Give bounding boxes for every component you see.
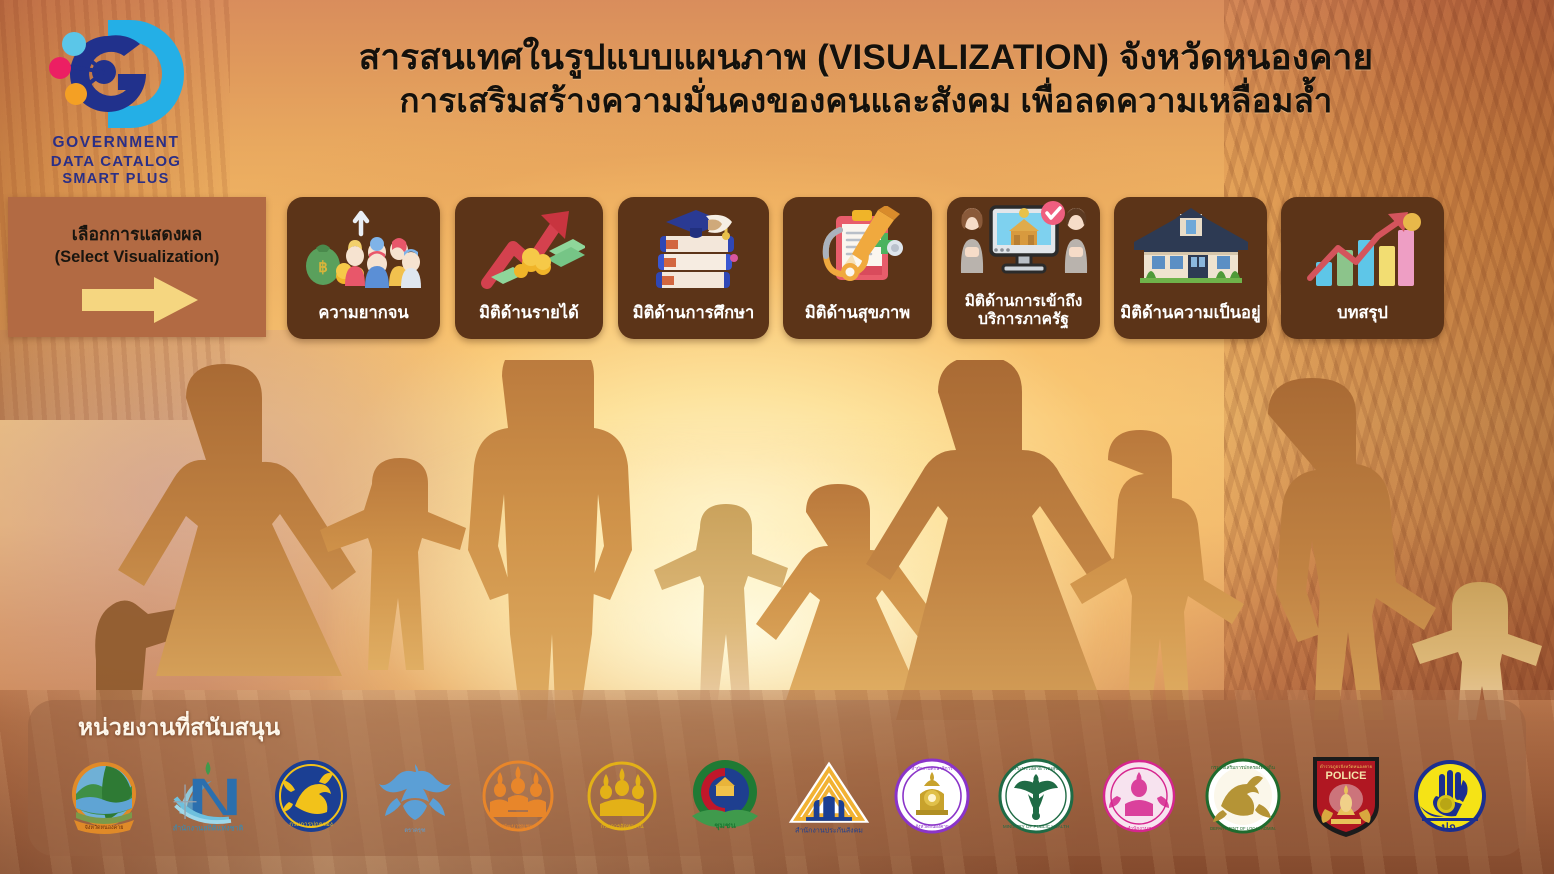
svg-text:จังหวัดหนองคาย: จังหวัดหนองคาย: [85, 824, 124, 831]
svg-text:฿: ฿: [318, 259, 328, 276]
page-title: สารสนเทศในรูปแบบแผนภาพ (VISUALIZATION) จ…: [196, 36, 1536, 122]
nav-button-health[interactable]: มิติด้านสุขภาพ: [783, 197, 932, 339]
page-header: GOVERNMENT DATA CATALOG SMART PLUS สารสน…: [0, 0, 1554, 190]
page-title-line-2: การเสริมสร้างความมั่นคงของคนและสังคม เพื…: [196, 80, 1536, 122]
svg-text:สำนักงานศึกษาธิการ: สำนักงานศึกษาธิการ: [912, 765, 954, 771]
brand-line-1: GOVERNMENT: [36, 134, 196, 153]
agency-logo-national-statistical: สำนักงานสถิติแห่งชาติ: [164, 752, 252, 840]
svg-text:สำนักงานประกันสังคม: สำนักงานประกันสังคม: [795, 826, 863, 834]
agency-logo-employment-dept: กรมการจัดหางาน: [578, 752, 666, 840]
nav-button-poverty-label: ความยากจน: [291, 304, 436, 323]
nav-button-income[interactable]: มิติด้านรายได้: [455, 197, 603, 339]
svg-text:จังหวัดหนองคาย: จังหวัดหนองคาย: [916, 823, 949, 829]
svg-text:สำนักงานสถิติแห่งชาติ: สำนักงานสถิติแห่งชาติ: [172, 823, 243, 832]
agency-logo-disaster-prevention: ปภ.: [1406, 752, 1494, 840]
visualization-nav: ฿ ความยากจน: [0, 197, 1554, 339]
brand-logo: GOVERNMENT DATA CATALOG SMART PLUS: [36, 14, 196, 186]
svg-text:POLICE: POLICE: [1326, 770, 1367, 782]
bar-chart-trend-icon: [1281, 205, 1444, 291]
brand-line-3: SMART PLUS: [36, 171, 196, 189]
nav-button-summary-label: บทสรุป: [1285, 304, 1440, 323]
agency-logo-education-office: สำนักงานศึกษาธิการ จังหวัดหนองคาย: [888, 752, 976, 840]
nav-button-education[interactable]: มิติด้านการศึกษา: [618, 197, 769, 339]
house-icon: [1114, 205, 1267, 291]
svg-text:DEPARTMENT OF LOCAL ADMIN.: DEPARTMENT OF LOCAL ADMIN.: [1210, 826, 1276, 831]
svg-text:กรมการจัดหางาน: กรมการจัดหางาน: [600, 823, 643, 830]
money-bag-people-icon: ฿: [287, 205, 440, 291]
agency-logo-garuda-emblem-blue: ตราครุฑ: [371, 752, 459, 840]
nav-button-poverty[interactable]: ฿ ความยากจน: [287, 197, 440, 339]
government-data-catalog-logo-icon: [46, 14, 186, 134]
svg-text:สำนักงานฯ: สำนักงานฯ: [1127, 826, 1151, 832]
svg-text:MINISTRY OF PUBLIC HEALTH: MINISTRY OF PUBLIC HEALTH: [1003, 824, 1069, 829]
poster-stage: GOVERNMENT DATA CATALOG SMART PLUS สารสน…: [0, 0, 1554, 874]
agency-logo-nongkhai-province: จังหวัดหนองคาย: [60, 752, 148, 840]
nav-button-living[interactable]: มิติด้านความเป็นอยู่: [1114, 197, 1267, 339]
growth-arrow-money-icon: [455, 205, 603, 291]
svg-text:กรมการปกครอง: กรมการปกครอง: [289, 821, 333, 828]
brand-line-2: DATA CATALOG: [36, 153, 196, 171]
nav-button-gov-service-label-line2: บริการภาครัฐ: [951, 311, 1096, 329]
agency-logo-social-security-office: สำนักงานประกันสังคม: [785, 752, 873, 840]
nav-button-gov-service-label-line1: มิติด้านการเข้าถึง: [951, 293, 1096, 311]
agency-logo-community-dev-orange: พัฒนาชุมชน: [474, 752, 562, 840]
svg-text:กรมส่งเสริมการปกครองท้องถิ่น: กรมส่งเสริมการปกครองท้องถิ่น: [1211, 764, 1276, 771]
nav-button-education-label: มิติด้านการศึกษา: [622, 304, 765, 323]
nav-button-living-label: มิติด้านความเป็นอยู่: [1118, 304, 1263, 323]
agency-logo-magenta-seal: สำนักงานฯ: [1095, 752, 1183, 840]
graduation-books-icon: [618, 205, 769, 291]
supporting-agencies-panel: หน่วยงานที่สนับสนุน จังหวัดหนองคาย: [28, 700, 1526, 856]
agency-logo-dept-provincial-admin: กรมการปกครอง: [267, 752, 355, 840]
nav-button-gov-service[interactable]: มิติด้านการเข้าถึง บริการภาครัฐ: [947, 197, 1100, 339]
nav-button-income-label: มิติด้านรายได้: [459, 304, 599, 323]
stethoscope-clipboard-icon: [783, 205, 932, 291]
supporting-agencies-title: หน่วยงานที่สนับสนุน: [78, 710, 280, 746]
agency-logo-dept-local-admin: กรมส่งเสริมการปกครองท้องถิ่น DEPARTMENT …: [1199, 752, 1287, 840]
agency-logo-community-dev-green: ชุมชน: [681, 752, 769, 840]
agency-logo-royal-thai-police: ตำรวจภูธรจังหวัดหนองคาย POLICE: [1302, 752, 1390, 840]
nav-button-summary[interactable]: บทสรุป: [1281, 197, 1444, 339]
paper-people-illustration: [0, 360, 1554, 720]
svg-text:พัฒนาชุมชน: พัฒนาชุมชน: [503, 823, 533, 830]
page-title-line-1: สารสนเทศในรูปแบบแผนภาพ (VISUALIZATION) จ…: [196, 36, 1536, 80]
supporting-agencies-logos: จังหวัดหนองคาย สำนักงานสถิติแห่งชาติ: [48, 746, 1506, 846]
nav-button-gov-service-label: มิติด้านการเข้าถึง บริการภาครัฐ: [951, 293, 1096, 329]
gov-service-monitor-icon: [947, 201, 1100, 279]
svg-text:กระทรวงสาธารณสุข: กระทรวงสาธารณสุข: [1013, 766, 1058, 772]
svg-text:ตราครุฑ: ตราครุฑ: [404, 828, 426, 834]
agency-logo-ministry-public-health: กระทรวงสาธารณสุข MINISTRY OF PUBLIC HEAL…: [992, 752, 1080, 840]
svg-text:ปภ.: ปภ.: [1441, 821, 1458, 834]
svg-text:ชุมชน: ชุมชน: [714, 821, 736, 831]
brand-logo-text: GOVERNMENT DATA CATALOG SMART PLUS: [36, 134, 196, 189]
nav-button-health-label: มิติด้านสุขภาพ: [787, 304, 928, 323]
